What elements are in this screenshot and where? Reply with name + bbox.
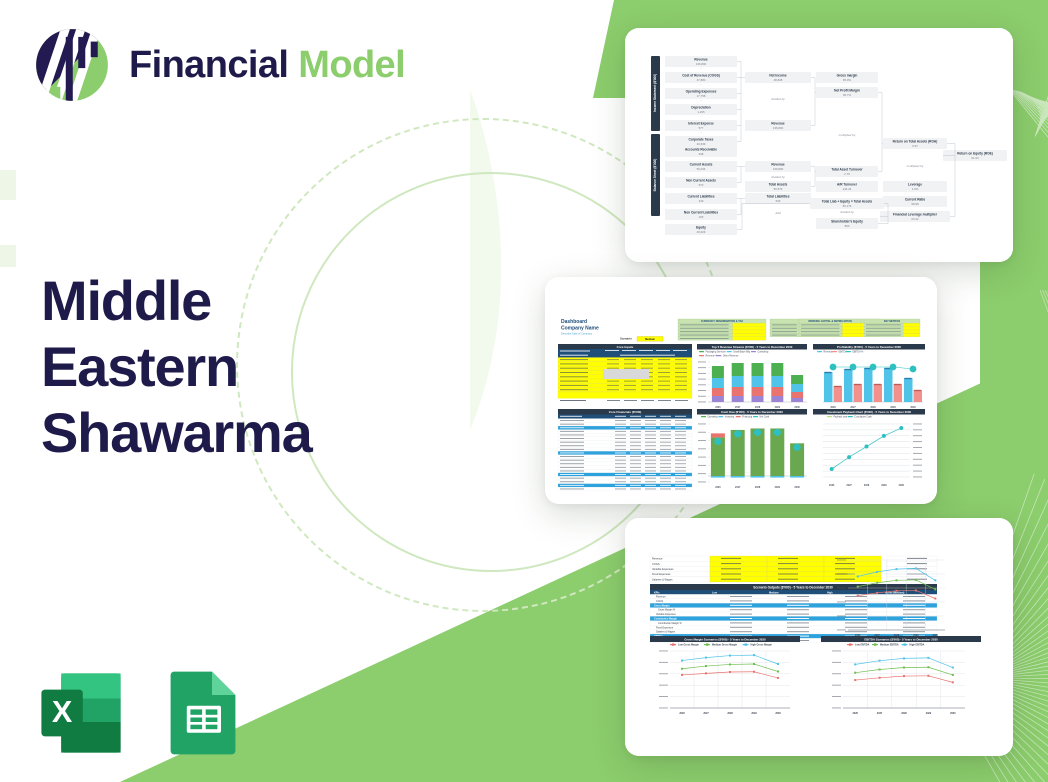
- svg-text:Cash flow ($'000) - 5 Years to: Cash flow ($'000) - 5 Years to December …: [721, 410, 783, 414]
- svg-text:-: -: [701, 131, 702, 135]
- svg-text:Fixed Expenses: Fixed Expenses: [656, 626, 674, 629]
- svg-text:Gross margin: Gross margin: [837, 74, 858, 78]
- svg-text:2030: 2030: [899, 484, 905, 487]
- svg-text:136,800: 136,800: [773, 167, 784, 171]
- svg-text:Company Name: Company Name: [561, 326, 599, 332]
- financial-model-circle-chart-logo-icon: [33, 26, 111, 104]
- svg-text:Fixed Expenses: Fixed Expenses: [652, 572, 671, 576]
- svg-text:48,828: 48,828: [774, 78, 783, 82]
- svg-text:Salaries & Wages: Salaries & Wages: [652, 577, 673, 581]
- svg-text:2030: 2030: [950, 712, 956, 715]
- svg-text:EBITDA: EBITDA: [839, 351, 848, 354]
- svg-text:2029: 2029: [775, 406, 781, 409]
- svg-text:Cost of Revenue (COGS): Cost of Revenue (COGS): [682, 74, 720, 78]
- svg-text:Non Current Assets: Non Current Assets: [686, 179, 716, 183]
- svg-text:1.0%: 1.0%: [912, 187, 919, 191]
- scenario-screenshot[interactable]: RevenueCOGSVariable ExpensesFixed Expens…: [625, 518, 1013, 756]
- svg-text:CURRENCY DENOMINATION & TAX: CURRENCY DENOMINATION & TAX: [701, 320, 744, 323]
- svg-text:X: X: [52, 695, 73, 729]
- svg-text:Medium EBITDA: Medium EBITDA: [880, 644, 899, 647]
- dashboard-screenshot[interactable]: DashboardCompany NameDescribe Date of Co…: [545, 277, 937, 504]
- svg-text:17,758: 17,758: [697, 94, 706, 98]
- svg-text:Add: Add: [774, 211, 781, 215]
- svg-text:47,880: 47,880: [697, 78, 706, 82]
- svg-text:Contribution Margin: Contribution Margin: [654, 618, 677, 621]
- page-title-line-2: Eastern: [41, 334, 401, 400]
- svg-text:Variable Expenses: Variable Expenses: [656, 613, 677, 616]
- svg-text:Variable Expenses: Variable Expenses: [652, 567, 674, 571]
- svg-text:Non Current Liabilities: Non Current Liabilities: [684, 211, 718, 215]
- svg-text:2029: 2029: [775, 486, 781, 489]
- svg-text:Return on Total Assets (ROA): Return on Total Assets (ROA): [893, 140, 938, 144]
- svg-text:Gross Margin %: Gross Margin %: [658, 609, 676, 612]
- ratio-tree-screenshot[interactable]: Income Statement ($'000)Balance Sheet ($…: [625, 28, 1013, 262]
- svg-text:Small Batch Mfg: Small Batch Mfg: [733, 351, 750, 354]
- svg-text:2026: 2026: [853, 712, 859, 715]
- svg-text:Income Statement ($'000): Income Statement ($'000): [653, 74, 657, 112]
- svg-text:Net Income: Net Income: [769, 74, 786, 78]
- svg-text:multiplied by: multiplied by: [907, 164, 924, 168]
- svg-text:2030: 2030: [794, 486, 800, 489]
- svg-text:2.70: 2.70: [844, 172, 850, 176]
- promo-slide: Financial Model Middle Eastern Shawarma …: [0, 0, 1048, 782]
- svg-text:Revenue: Revenue: [771, 163, 785, 167]
- svg-text:2028: 2028: [727, 712, 733, 715]
- svg-text:KPIs: KPIs: [654, 591, 660, 594]
- svg-text:KEY METRICS: KEY METRICS: [884, 320, 901, 323]
- svg-text:35.7%: 35.7%: [843, 93, 852, 97]
- page-title-line-3: Shawarma: [41, 400, 401, 466]
- svg-text:WORKING CAPITAL & DEPRECIATION: WORKING CAPITAL & DEPRECIATION: [808, 320, 852, 323]
- svg-text:multiplied by: multiplied by: [839, 133, 856, 137]
- file-format-icons: X: [36, 668, 248, 758]
- svg-text:Shareholder's Equity: Shareholder's Equity: [831, 220, 863, 224]
- svg-text:Medium Gross Margin: Medium Gross Margin: [712, 644, 738, 647]
- svg-text:Interest Expense: Interest Expense: [688, 122, 714, 126]
- brand-wordmark: Financial Model: [129, 46, 405, 84]
- svg-text:2030: 2030: [794, 406, 800, 409]
- svg-text:144.24: 144.24: [843, 187, 852, 191]
- svg-text:2027: 2027: [735, 486, 741, 489]
- svg-text:High EBITDA: High EBITDA: [910, 644, 925, 647]
- svg-text:Return on Equity (ROE): Return on Equity (ROE): [957, 152, 993, 156]
- svg-text:Operating: Operating: [708, 416, 719, 419]
- svg-text:549: 549: [776, 199, 781, 203]
- svg-text:Consulting: Consulting: [757, 351, 769, 354]
- svg-text:2029: 2029: [926, 712, 932, 715]
- svg-text:63.22: 63.22: [911, 217, 919, 221]
- svg-text:2026: 2026: [679, 712, 685, 715]
- svg-text:Current Ratio: Current Ratio: [905, 198, 925, 202]
- svg-text:Medium: Medium: [645, 337, 655, 341]
- svg-text:Investment Payback Chart ($'00: Investment Payback Chart ($'000) - 5 Yea…: [827, 410, 912, 414]
- svg-text:Profitability ($'000) - 5 Year: Profitability ($'000) - 5 Years to Decem…: [837, 345, 901, 349]
- page-title: Middle Eastern Shawarma: [41, 268, 401, 466]
- svg-text:Total Liab + Equity = Total As: Total Liab + Equity = Total Assets: [822, 200, 873, 204]
- svg-text:2026: 2026: [830, 406, 836, 409]
- svg-text:2027: 2027: [846, 484, 852, 487]
- brand-word-financial: Financial: [129, 44, 288, 86]
- svg-text:50,576: 50,576: [774, 187, 783, 191]
- svg-text:2026: 2026: [829, 484, 835, 487]
- svg-text:2027: 2027: [735, 406, 741, 409]
- svg-text:Low: Low: [712, 591, 717, 594]
- svg-text:20,639: 20,639: [697, 142, 706, 146]
- svg-text:449: 449: [699, 199, 704, 203]
- svg-text:Packaging Services: Packaging Services: [706, 351, 727, 354]
- svg-text:Total Liabilities: Total Liabilities: [767, 195, 790, 199]
- svg-text:Financing: Financing: [742, 417, 753, 419]
- scenario-sheet: RevenueCOGSVariable ExpensesFixed Expens…: [625, 518, 1013, 756]
- svg-text:Financial Leverage multiplier: Financial Leverage multiplier: [893, 213, 938, 217]
- svg-text:-: -: [701, 99, 702, 103]
- svg-text:2030: 2030: [775, 712, 781, 715]
- svg-text:49,629: 49,629: [697, 230, 706, 234]
- svg-text:Medium: Medium: [769, 591, 779, 594]
- svg-text:2028: 2028: [755, 406, 761, 409]
- brand-logo: Financial Model: [33, 26, 405, 104]
- svg-text:Current Assets: Current Assets: [690, 163, 713, 167]
- svg-text:Low EBITDA: Low EBITDA: [855, 644, 870, 647]
- svg-text:divided by: divided by: [771, 97, 785, 101]
- brand-word-model: Model: [298, 44, 405, 86]
- dashboard-sheet: DashboardCompany NameDescribe Date of Co…: [545, 277, 937, 504]
- svg-text:570: 570: [699, 183, 704, 187]
- svg-text:Depreciation: Depreciation: [691, 106, 710, 110]
- svg-text:50,006: 50,006: [697, 167, 706, 171]
- svg-text:Leverage: Leverage: [908, 183, 922, 187]
- svg-text:2029: 2029: [881, 484, 887, 487]
- svg-text:Scenario: Scenario: [620, 337, 632, 341]
- svg-text:Other Revenue: Other Revenue: [723, 355, 739, 358]
- svg-text:EBITDA %: EBITDA %: [852, 351, 863, 354]
- svg-text:divided by: divided by: [840, 210, 854, 214]
- svg-text:58.98: 58.98: [911, 202, 919, 206]
- svg-text:Core Financials ($'000): Core Financials ($'000): [609, 410, 642, 414]
- svg-text:Corporate Taxes: Corporate Taxes: [689, 138, 714, 142]
- svg-text:Dashboard: Dashboard: [561, 319, 587, 325]
- svg-text:136,800: 136,800: [773, 126, 784, 130]
- svg-text:Revenue: Revenue: [694, 58, 708, 62]
- svg-text:50,176: 50,176: [843, 204, 852, 208]
- svg-text:2027: 2027: [877, 712, 883, 715]
- svg-text:Top 5 Revenue Streams ($'000): Top 5 Revenue Streams ($'000) - 5 Years …: [712, 345, 793, 349]
- svg-text:0.97: 0.97: [912, 144, 918, 148]
- svg-text:2028: 2028: [901, 712, 907, 715]
- svg-text:Revenue: Revenue: [824, 352, 834, 354]
- svg-text:61.03: 61.03: [971, 156, 979, 160]
- svg-text:Gross Margin Scenarios ($'000): Gross Margin Scenarios ($'000) - 5 Years…: [684, 637, 766, 641]
- svg-text:Cumulative Cash: Cumulative Cash: [854, 416, 872, 419]
- svg-text:Balance Sheet ($'000): Balance Sheet ($'000): [653, 159, 657, 192]
- microsoft-excel-icon[interactable]: X: [36, 668, 126, 758]
- svg-text:Revenue: Revenue: [652, 557, 663, 561]
- page-title-line-1: Middle: [41, 268, 401, 334]
- svg-text:Revenue 4: Revenue 4: [706, 356, 718, 358]
- svg-text:Current Liabilities: Current Liabilities: [687, 195, 714, 199]
- svg-text:-: -: [701, 67, 702, 71]
- svg-text:800: 800: [845, 224, 850, 228]
- svg-text:136,800: 136,800: [696, 62, 707, 66]
- svg-text:Total Assets: Total Assets: [769, 183, 788, 187]
- ratio-tree-diagram: Income Statement ($'000)Balance Sheet ($…: [625, 28, 1013, 262]
- svg-text:Net Profit Margin: Net Profit Margin: [834, 89, 860, 93]
- svg-text:2027: 2027: [703, 712, 709, 715]
- svg-text:Operating Expenses: Operating Expenses: [686, 90, 717, 94]
- svg-text:High: High: [827, 591, 833, 594]
- svg-text:Gross Margin: Gross Margin: [654, 604, 670, 607]
- svg-text:Describe Date of Company: Describe Date of Company: [561, 332, 593, 336]
- svg-text:2028: 2028: [870, 406, 876, 409]
- svg-text:Core Inputs: Core Inputs: [617, 345, 634, 349]
- svg-text:A/R Turnover: A/R Turnover: [837, 183, 858, 187]
- svg-text:Salaries & Wages: Salaries & Wages: [656, 631, 676, 634]
- svg-text:948: 948: [699, 152, 704, 156]
- svg-text:divided by: divided by: [771, 175, 785, 179]
- svg-text:High Gross Margin: High Gross Margin: [751, 644, 773, 647]
- svg-text:Low Gross Margin: Low Gross Margin: [678, 644, 699, 647]
- svg-text:2028: 2028: [864, 484, 870, 487]
- svg-text:2028: 2028: [755, 486, 761, 489]
- svg-text:EBITDA Scenarios ($'000) - 5 Y: EBITDA Scenarios ($'000) - 5 Years to De…: [864, 637, 938, 641]
- svg-text:2030: 2030: [910, 406, 916, 409]
- svg-text:2029: 2029: [751, 712, 757, 715]
- svg-text:2026: 2026: [715, 486, 721, 489]
- svg-text:2026: 2026: [715, 406, 721, 409]
- svg-text:COGS: COGS: [656, 600, 663, 603]
- svg-text:Total Asset Turnover: Total Asset Turnover: [831, 168, 863, 172]
- svg-text:1,265: 1,265: [697, 110, 705, 114]
- svg-text:Net Cash: Net Cash: [760, 416, 770, 419]
- svg-text:Contribution Margin %: Contribution Margin %: [658, 622, 683, 625]
- google-sheets-icon[interactable]: [158, 668, 248, 758]
- svg-text:Revenue: Revenue: [771, 122, 785, 126]
- svg-text:-: -: [701, 115, 702, 119]
- svg-text:Scenario Outputs ($'000) - 5 Y: Scenario Outputs ($'000) - 5 Years to De…: [753, 585, 833, 589]
- svg-text:Investing: Investing: [725, 416, 735, 419]
- svg-text:-: -: [701, 83, 702, 87]
- svg-text:65.0%: 65.0%: [843, 78, 852, 82]
- svg-text:Payback year: Payback year: [834, 416, 848, 419]
- svg-text:COGS: COGS: [652, 562, 660, 566]
- svg-text:Revenue: Revenue: [656, 596, 666, 599]
- svg-text:Accounts Receivable: Accounts Receivable: [685, 148, 717, 152]
- svg-text:2029: 2029: [890, 406, 896, 409]
- svg-text:Equity: Equity: [696, 226, 706, 230]
- svg-text:2027: 2027: [850, 406, 856, 409]
- svg-text:105: 105: [699, 215, 704, 219]
- svg-text:577: 577: [699, 126, 704, 130]
